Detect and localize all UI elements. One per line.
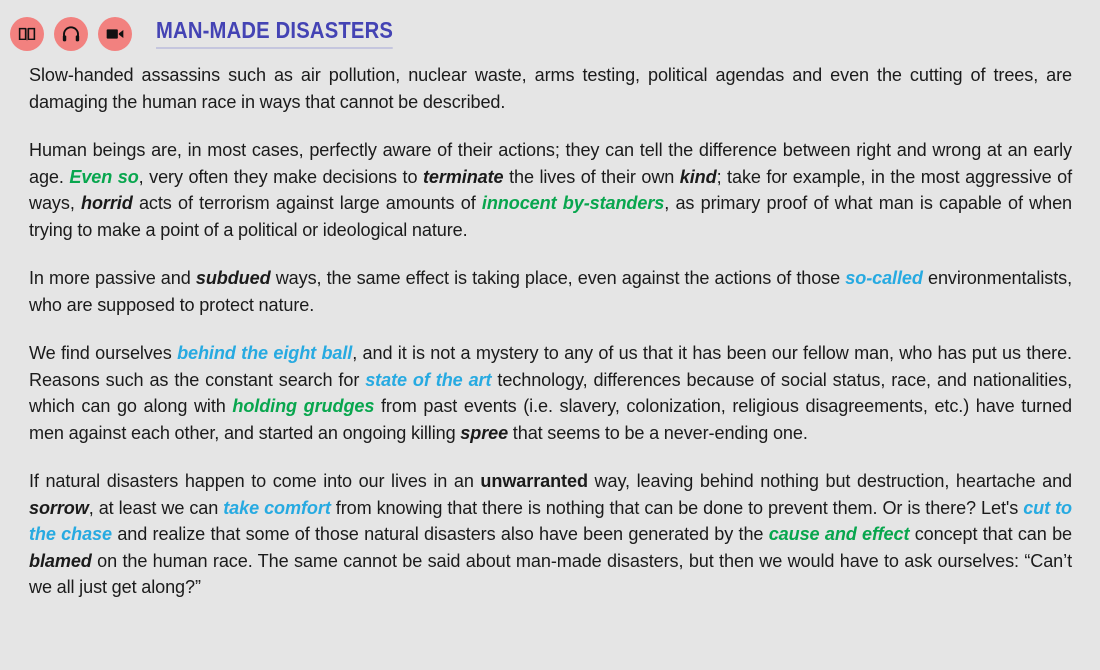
- page-title: MAN-MADE DISASTERS: [156, 19, 393, 49]
- headphones-icon: [61, 24, 81, 44]
- emphasis-term: spree: [460, 423, 508, 443]
- emphasis-term: state of the art: [365, 370, 491, 390]
- paragraph-1: Slow-handed assassins such as air pollut…: [29, 62, 1072, 115]
- headphones-icon-button[interactable]: [54, 17, 88, 51]
- body-text: Slow-handed assassins such as air pollut…: [29, 65, 1072, 112]
- emphasis-term: Even so: [69, 167, 138, 187]
- body-text: way, leaving behind nothing but destruct…: [588, 471, 1072, 491]
- emphasis-term: unwarranted: [480, 471, 587, 491]
- paragraph-3: In more passive and subdued ways, the sa…: [29, 265, 1072, 318]
- paragraph-5: If natural disasters happen to come into…: [29, 468, 1072, 601]
- emphasis-term: blamed: [29, 551, 92, 571]
- emphasis-term: holding grudges: [232, 396, 374, 416]
- body-text: , at least we can: [89, 498, 224, 518]
- body-text: from knowing that there is nothing that …: [331, 498, 1023, 518]
- article-page: MAN-MADE DISASTERS Slow-handed assassins…: [0, 0, 1100, 670]
- paragraph-4: We find ourselves behind the eight ball,…: [29, 340, 1072, 446]
- emphasis-term: innocent by-standers: [482, 193, 664, 213]
- emphasis-term: take comfort: [223, 498, 331, 518]
- emphasis-term: so-called: [845, 268, 923, 288]
- book-icon: [17, 24, 37, 44]
- emphasis-term: sorrow: [29, 498, 89, 518]
- article-body: Slow-handed assassins such as air pollut…: [0, 50, 1100, 601]
- body-text: ways, the same effect is taking place, e…: [271, 268, 846, 288]
- body-text: concept that can be: [909, 524, 1072, 544]
- body-text: , very often they make decisions to: [139, 167, 423, 187]
- body-text: on the human race. The same cannot be sa…: [29, 551, 1072, 598]
- body-text: If natural disasters happen to come into…: [29, 471, 480, 491]
- body-text: the lives of their own: [504, 167, 680, 187]
- book-icon-button[interactable]: [10, 17, 44, 51]
- body-text: and realize that some of those natural d…: [112, 524, 769, 544]
- emphasis-term: kind: [680, 167, 717, 187]
- body-text: We find ourselves: [29, 343, 177, 363]
- emphasis-term: cause and effect: [769, 524, 910, 544]
- video-camera-icon-button[interactable]: [98, 17, 132, 51]
- paragraph-2: Human beings are, in most cases, perfect…: [29, 137, 1072, 243]
- article-header: MAN-MADE DISASTERS: [0, 0, 1100, 50]
- video-camera-icon: [105, 24, 125, 44]
- body-text: that seems to be a never-ending one.: [508, 423, 808, 443]
- emphasis-term: terminate: [423, 167, 504, 187]
- body-text: In more passive and: [29, 268, 196, 288]
- emphasis-term: subdued: [196, 268, 271, 288]
- emphasis-term: horrid: [81, 193, 133, 213]
- body-text: acts of terrorism against large amounts …: [133, 193, 482, 213]
- emphasis-term: behind the eight ball: [177, 343, 352, 363]
